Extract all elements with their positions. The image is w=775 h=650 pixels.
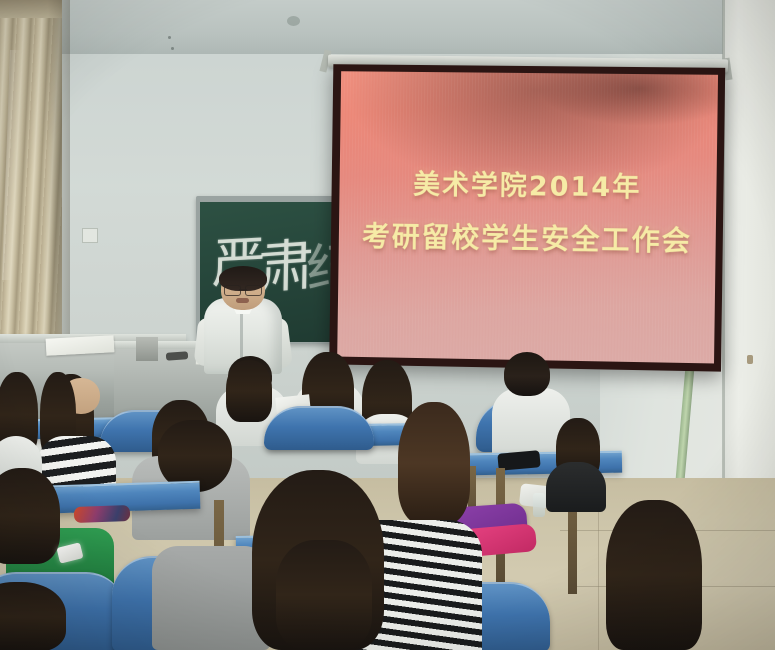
light-switch[interactable] <box>82 228 98 243</box>
ceiling <box>0 0 775 62</box>
stack-of-papers <box>46 335 115 356</box>
student-dark-top-right <box>546 462 606 512</box>
student-long-hair-front-right <box>606 500 702 650</box>
water-bottle <box>533 493 545 517</box>
slide-text-block: 美术学院2014年 考研留校学生安全工作会 <box>339 159 717 269</box>
speaker-mouth <box>236 298 249 303</box>
glasses-case <box>166 351 189 361</box>
pencil-case <box>74 505 131 523</box>
wall-nail-icon <box>171 47 174 50</box>
curtain-shadow-edge <box>48 0 70 355</box>
student-long-hair <box>0 468 60 564</box>
slide-title-line-2: 考研留校学生安全工作会 <box>339 210 717 269</box>
student-long-brown-hair <box>398 402 470 524</box>
student-hair-strands <box>276 540 372 650</box>
student-long-hair <box>226 360 272 422</box>
slide-title-line-1: 美术学院2014年 <box>339 159 717 215</box>
eyeglasses-icon <box>224 285 262 294</box>
projected-slide: 美术学院2014年 考研留校学生安全工作会 <box>337 71 718 363</box>
student-head <box>504 352 550 396</box>
chair-back[interactable] <box>264 406 374 450</box>
door-handle-icon[interactable] <box>747 355 753 364</box>
projector-hotspot <box>535 71 718 127</box>
classroom-photo: 严 肃 纪 美术学院2014年 考研留校学生安全工作会 <box>0 0 775 650</box>
wall-nail-icon <box>168 36 171 39</box>
curtain-fold <box>2 50 22 280</box>
projection-screen[interactable]: 美术学院2014年 考研留校学生安全工作会 <box>329 64 725 371</box>
floor-tile-seam <box>598 490 599 650</box>
ceiling-smoke-detector <box>287 16 300 26</box>
equipment-box <box>136 337 158 361</box>
